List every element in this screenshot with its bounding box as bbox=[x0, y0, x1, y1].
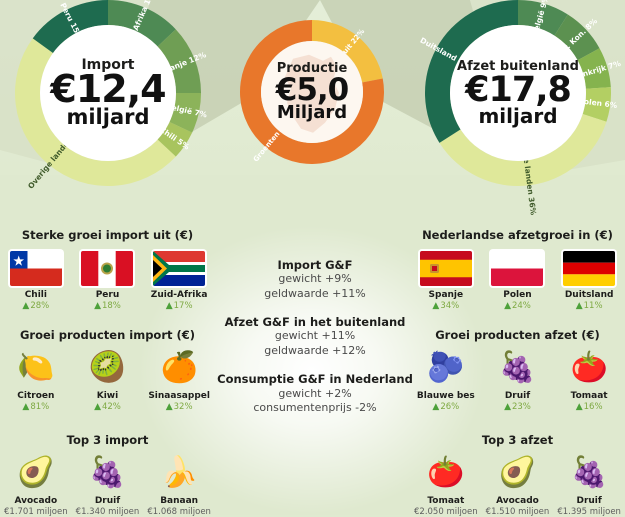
avocado-icon: 🥑 bbox=[0, 456, 71, 492]
section-nederlandse-afzetgroei: Nederlandse afzetgroei in (€)Spanje▲34%P… bbox=[410, 228, 625, 311]
growth-percent: ▲16% bbox=[554, 402, 625, 412]
list-item[interactable]: 🫐Blauwe bes▲26% bbox=[410, 351, 481, 412]
item-value: €1.068 miljoen bbox=[144, 507, 215, 517]
list-item[interactable]: 🥑Avocado€1.510 miljoen bbox=[482, 456, 553, 517]
list-item[interactable]: Spanje▲34% bbox=[410, 251, 481, 311]
item-label: Citroen bbox=[0, 391, 71, 401]
up-arrow-icon: ▲ bbox=[432, 301, 439, 311]
item-label: Avocado bbox=[482, 496, 553, 506]
germany-flag bbox=[563, 251, 615, 286]
item-label: Duitsland bbox=[554, 290, 625, 300]
section-items: 🍋Citroen▲81%🥝Kiwi▲42%🍊Sinaasappel▲32% bbox=[0, 351, 215, 412]
item-label: Zuid-Afrika bbox=[144, 290, 215, 300]
section-title: Sterke groei import uit (€) bbox=[0, 228, 215, 242]
section-title: Top 3 afzet bbox=[410, 433, 625, 447]
item-label: Avocado bbox=[0, 496, 71, 506]
stat-block-import-gf: Import G&Fgewicht +9%geldwaarde +11% bbox=[215, 258, 415, 302]
list-item[interactable]: Polen▲24% bbox=[482, 251, 553, 311]
poland-flag bbox=[491, 251, 543, 286]
chile-flag bbox=[10, 251, 62, 286]
item-value: €1.510 miljoen bbox=[482, 507, 553, 517]
item-label: Blauwe bes bbox=[410, 391, 481, 401]
item-label: Druif bbox=[554, 496, 625, 506]
section-items: Spanje▲34%Polen▲24%Duitsland▲11% bbox=[410, 251, 625, 311]
growth-percent: ▲17% bbox=[144, 301, 215, 311]
list-item[interactable]: 🍋Citroen▲81% bbox=[0, 351, 71, 412]
growth-percent: ▲28% bbox=[0, 301, 71, 311]
growth-percent: ▲24% bbox=[482, 301, 553, 311]
stat-block-afzet-gf-buitenland: Afzet G&F in het buitenlandgewicht +11%g… bbox=[215, 315, 415, 359]
item-label: Kiwi bbox=[72, 391, 143, 401]
stat-block-consumptie-gf-nederland: Consumptie G&F in Nederlandgewicht +2%co… bbox=[215, 372, 415, 416]
stat-line: consumentenprijs -2% bbox=[215, 401, 415, 416]
section-items: 🫐Blauwe bes▲26%🍇Druif▲23%🍅Tomaat▲16% bbox=[410, 351, 625, 412]
up-arrow-icon: ▲ bbox=[576, 301, 583, 311]
peru-flag bbox=[81, 251, 133, 286]
list-item[interactable]: 🍊Sinaasappel▲32% bbox=[144, 351, 215, 412]
tomato-icon: 🍅 bbox=[410, 456, 481, 492]
lemon-icon: 🍋 bbox=[0, 351, 71, 387]
stat-heading: Afzet G&F in het buitenland bbox=[215, 315, 415, 329]
stat-line: gewicht +11% bbox=[215, 329, 415, 344]
orange-icon: 🍊 bbox=[144, 351, 215, 387]
donut-center: Import€12,4miljard bbox=[40, 25, 176, 161]
donut-center: Afzet buitenland€17,8miljard bbox=[450, 25, 586, 161]
donut-chart-productie: Fruit 22%Groenten 78%Productie€5,0Miljar… bbox=[240, 20, 384, 164]
item-value: €1.395 miljoen bbox=[554, 507, 625, 517]
up-arrow-icon: ▲ bbox=[576, 402, 583, 412]
center-stats-column: Import G&Fgewicht +9%geldwaarde +11%Afze… bbox=[215, 258, 415, 429]
item-label: Tomaat bbox=[410, 496, 481, 506]
donut-value: €5,0 bbox=[276, 76, 349, 105]
up-arrow-icon: ▲ bbox=[166, 301, 173, 311]
list-item[interactable]: 🍅Tomaat▲16% bbox=[554, 351, 625, 412]
section-groei-producten-afzet: Groei producten afzet (€)🫐Blauwe bes▲26%… bbox=[410, 328, 625, 412]
section-items: 🥑Avocado€1.701 miljoen🍇Druif€1.340 miljo… bbox=[0, 456, 215, 517]
list-item[interactable]: Duitsland▲11% bbox=[554, 251, 625, 311]
growth-percent: ▲42% bbox=[72, 402, 143, 412]
up-arrow-icon: ▲ bbox=[22, 301, 29, 311]
section-top3-import: Top 3 import🥑Avocado€1.701 miljoen🍇Druif… bbox=[0, 433, 215, 517]
donut-chart-import: Zuid-Afrika 13%Spanje 12%België 7%Chili … bbox=[15, 0, 201, 186]
donut-unit: miljard bbox=[66, 107, 149, 128]
list-item[interactable]: 🥝Kiwi▲42% bbox=[72, 351, 143, 412]
grapes-icon: 🍇 bbox=[482, 351, 553, 387]
growth-percent: ▲26% bbox=[410, 402, 481, 412]
section-items: Chili▲28%Peru▲18%Zuid-Afrika▲17% bbox=[0, 251, 215, 311]
item-value: €1.701 miljoen bbox=[0, 507, 71, 517]
section-items: 🍅Tomaat€2.050 miljoen🥑Avocado€1.510 milj… bbox=[410, 456, 625, 517]
section-title: Groei producten import (€) bbox=[0, 328, 215, 342]
section-top3-afzet: Top 3 afzet🍅Tomaat€2.050 miljoen🥑Avocado… bbox=[410, 433, 625, 517]
grapes-icon: 🍇 bbox=[72, 456, 143, 492]
donut-unit: miljard bbox=[478, 106, 557, 126]
section-title: Nederlandse afzetgroei in (€) bbox=[410, 228, 625, 242]
stat-line: gewicht +2% bbox=[215, 387, 415, 402]
donut-center: Productie€5,0Miljard bbox=[261, 41, 363, 143]
up-arrow-icon: ▲ bbox=[22, 402, 29, 412]
donut-chart-afzet: België 9%Ver. Kon. 8%Frankrijk 7%Polen 6… bbox=[425, 0, 611, 186]
list-item[interactable]: 🍇Druif€1.395 miljoen bbox=[554, 456, 625, 517]
infographic-root: Zuid-Afrika 13%Spanje 12%België 7%Chili … bbox=[0, 0, 625, 515]
item-label: Tomaat bbox=[554, 391, 625, 401]
item-label: Druif bbox=[72, 496, 143, 506]
tomato-icon: 🍅 bbox=[554, 351, 625, 387]
donut-value: €12,4 bbox=[50, 72, 165, 107]
growth-percent: ▲23% bbox=[482, 402, 553, 412]
up-arrow-icon: ▲ bbox=[94, 301, 101, 311]
up-arrow-icon: ▲ bbox=[504, 301, 511, 311]
item-label: Banaan bbox=[144, 496, 215, 506]
list-item[interactable]: 🍇Druif▲23% bbox=[482, 351, 553, 412]
up-arrow-icon: ▲ bbox=[504, 402, 511, 412]
section-title: Groei producten afzet (€) bbox=[410, 328, 625, 342]
kiwi-icon: 🥝 bbox=[72, 351, 143, 387]
donut-unit: Miljard bbox=[277, 104, 347, 122]
south-africa-flag bbox=[153, 251, 205, 286]
list-item[interactable]: Zuid-Afrika▲17% bbox=[144, 251, 215, 311]
section-groei-producten-import: Groei producten import (€)🍋Citroen▲81%🥝K… bbox=[0, 328, 215, 412]
up-arrow-icon: ▲ bbox=[166, 402, 173, 412]
growth-percent: ▲32% bbox=[144, 402, 215, 412]
stat-line: geldwaarde +11% bbox=[215, 287, 415, 302]
stat-heading: Consumptie G&F in Nederland bbox=[215, 372, 415, 386]
section-sterke-groei-import: Sterke groei import uit (€)Chili▲28%Peru… bbox=[0, 228, 215, 311]
section-title: Top 3 import bbox=[0, 433, 215, 447]
avocado-icon: 🥑 bbox=[482, 456, 553, 492]
growth-percent: ▲11% bbox=[554, 301, 625, 311]
item-label: Chili bbox=[0, 290, 71, 300]
item-value: €2.050 miljoen bbox=[410, 507, 481, 517]
stat-line: geldwaarde +12% bbox=[215, 344, 415, 359]
item-label: Druif bbox=[482, 391, 553, 401]
item-label: Peru bbox=[72, 290, 143, 300]
item-value: €1.340 miljoen bbox=[72, 507, 143, 517]
list-item[interactable]: 🍇Druif€1.340 miljoen bbox=[72, 456, 143, 517]
list-item[interactable]: 🍅Tomaat€2.050 miljoen bbox=[410, 456, 481, 517]
blueberries-icon: 🫐 bbox=[410, 351, 481, 387]
list-item[interactable]: 🍌Banaan€1.068 miljoen bbox=[144, 456, 215, 517]
growth-percent: ▲18% bbox=[72, 301, 143, 311]
growth-percent: ▲34% bbox=[410, 301, 481, 311]
stat-line: gewicht +9% bbox=[215, 272, 415, 287]
list-item[interactable]: Chili▲28% bbox=[0, 251, 71, 311]
spain-flag bbox=[420, 251, 472, 286]
growth-percent: ▲81% bbox=[0, 402, 71, 412]
up-arrow-icon: ▲ bbox=[432, 402, 439, 412]
up-arrow-icon: ▲ bbox=[94, 402, 101, 412]
list-item[interactable]: Peru▲18% bbox=[72, 251, 143, 311]
banana-icon: 🍌 bbox=[144, 456, 215, 492]
item-label: Spanje bbox=[410, 290, 481, 300]
stat-heading: Import G&F bbox=[215, 258, 415, 272]
item-label: Polen bbox=[482, 290, 553, 300]
list-item[interactable]: 🥑Avocado€1.701 miljoen bbox=[0, 456, 71, 517]
grapes-icon: 🍇 bbox=[554, 456, 625, 492]
donut-value: €17,8 bbox=[465, 74, 571, 106]
item-label: Sinaasappel bbox=[144, 391, 215, 401]
